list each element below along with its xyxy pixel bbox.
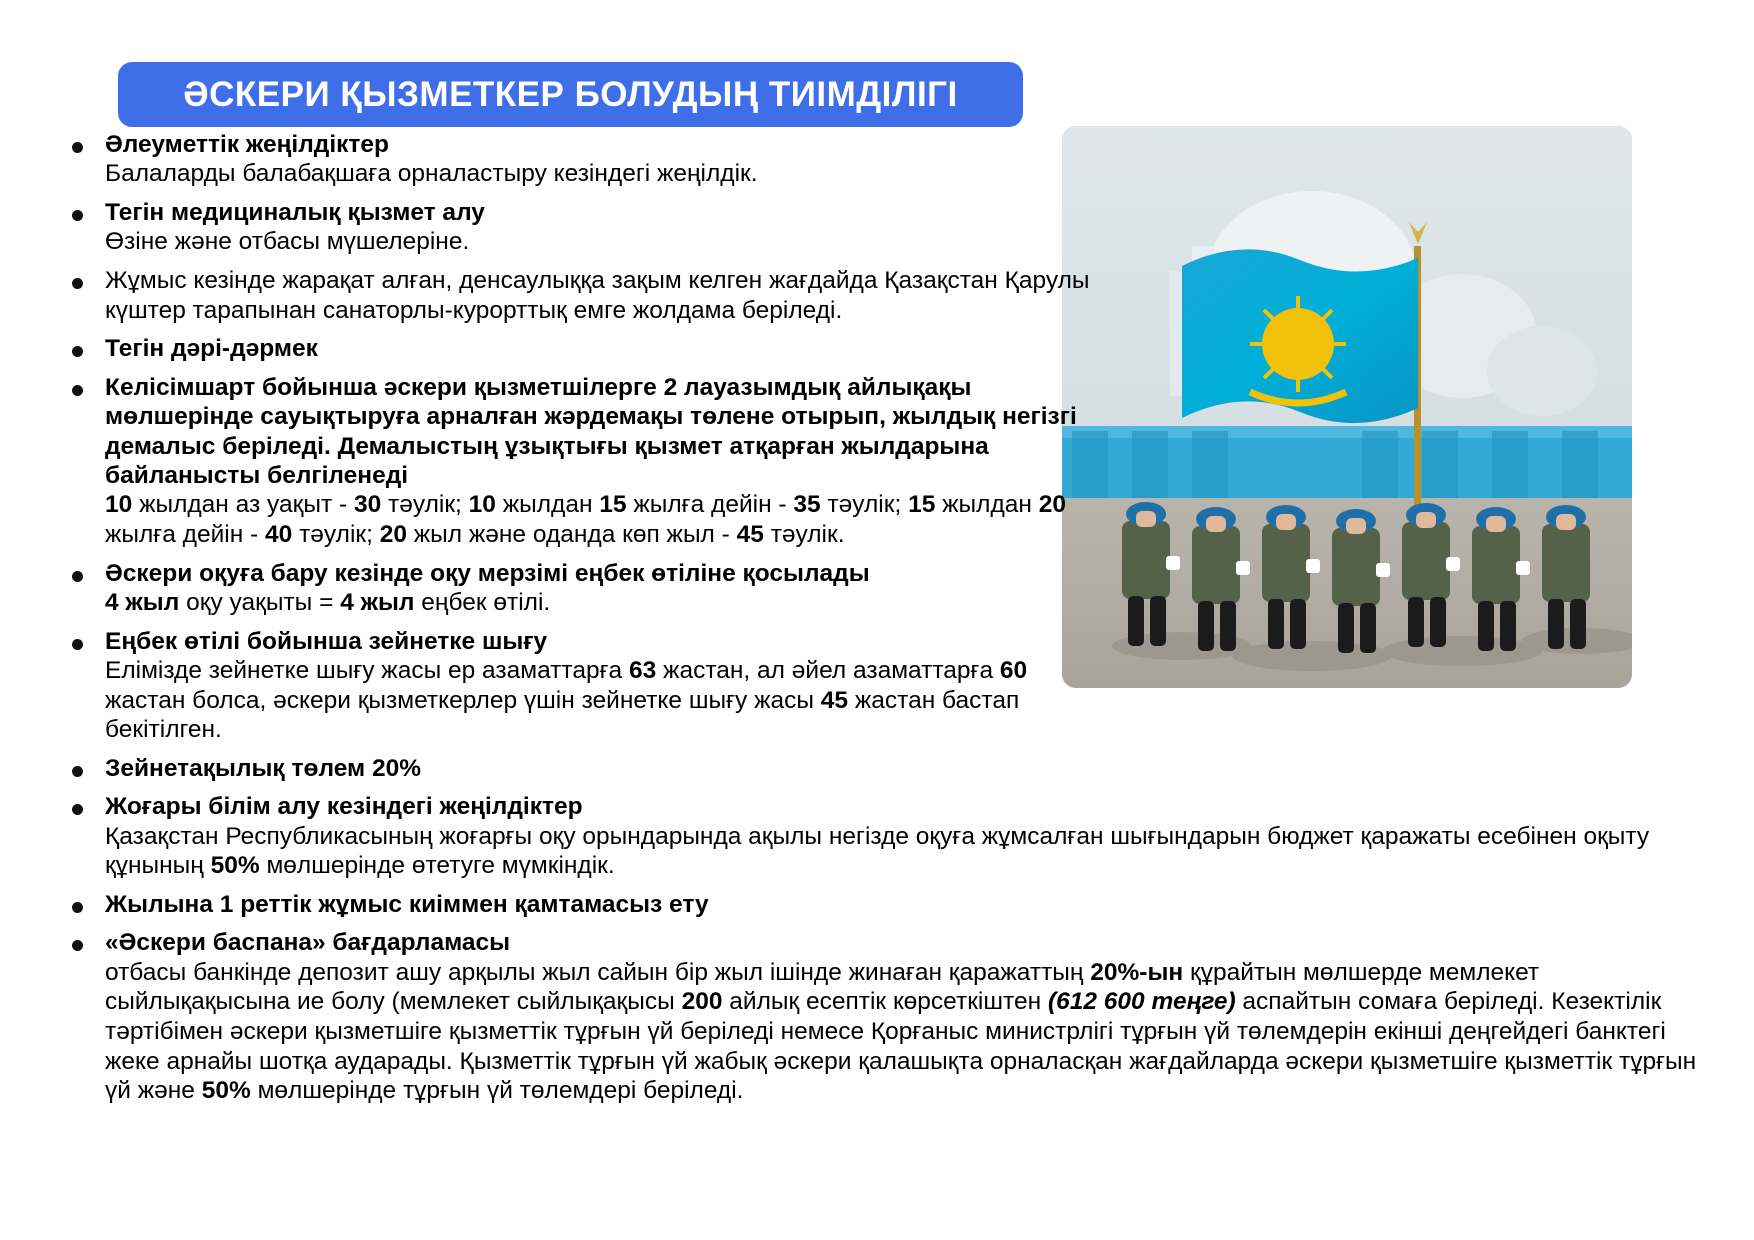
list-item: «Әскери баспана» бағдарламасы отбасы бан… xyxy=(60,928,1700,1106)
bullet-heading: Әскери оқуға бару кезінде оқу мерзімі ең… xyxy=(105,559,1090,588)
bullet-body: Балаларды балабақшаға орналастыру кезінд… xyxy=(105,159,1090,189)
page-title: ӘСКЕРИ ҚЫЗМЕТКЕР БОЛУДЫҢ ТИІМДІЛІГІ xyxy=(183,77,958,112)
title-banner: ӘСКЕРИ ҚЫЗМЕТКЕР БОЛУДЫҢ ТИІМДІЛІГІ xyxy=(118,62,1023,127)
list-item: Жылына 1 реттік жұмыс киіммен қамтамасыз… xyxy=(60,890,1700,919)
bullet-body: Жұмыс кезінде жарақат алған, денсаулыққа… xyxy=(105,266,1090,325)
bullet-heading: Келісімшарт бойынша әскери қызметшілерге… xyxy=(105,373,1090,491)
bullet-heading: «Әскери баспана» бағдарламасы xyxy=(105,928,1700,957)
list-item: Келісімшарт бойынша әскери қызметшілерге… xyxy=(60,373,1090,550)
bullet-heading: Тегін дәрі-дәрмек xyxy=(105,334,1090,363)
poster-page: ӘСКЕРИ ҚЫЗМЕТКЕР БОЛУДЫҢ ТИІМДІЛІГІ xyxy=(0,0,1754,1240)
benefits-list: Әлеуметтік жеңілдіктер Балаларды балабақ… xyxy=(60,130,1700,1106)
bullet-body: отбасы банкінде депозит ашу арқылы жыл с… xyxy=(105,958,1700,1106)
benefits-content: Әлеуметтік жеңілдіктер Балаларды балабақ… xyxy=(60,130,1700,1115)
bullet-heading: Жылына 1 реттік жұмыс киіммен қамтамасыз… xyxy=(105,890,1700,919)
bullet-body: 4 жыл оқу уақыты = 4 жыл еңбек өтілі. xyxy=(105,588,1090,618)
list-item: Тегін дәрі-дәрмек xyxy=(60,334,1090,363)
list-item: Жоғары білім алу кезіндегі жеңілдіктер Қ… xyxy=(60,792,1700,881)
bullet-body: 10 жылдан аз уақыт - 30 тәулік; 10 жылда… xyxy=(105,490,1090,549)
bullet-heading: Тегін медициналық қызмет алу xyxy=(105,198,1090,227)
list-item: Зейнетақылық төлем 20% xyxy=(60,754,1700,783)
bullet-heading: Зейнетақылық төлем 20% xyxy=(105,754,1700,783)
list-item: Әскери оқуға бару кезінде оқу мерзімі ең… xyxy=(60,559,1090,618)
bullet-body: Елімізде зейнетке шығу жасы ер азаматтар… xyxy=(105,656,1090,745)
bullet-body: Өзіне және отбасы мүшелеріне. xyxy=(105,227,1090,257)
list-item: Әлеуметтік жеңілдіктер Балаларды балабақ… xyxy=(60,130,1090,189)
bullet-heading: Жоғары білім алу кезіндегі жеңілдіктер xyxy=(105,792,1700,821)
bullet-heading: Еңбек өтілі бойынша зейнетке шығу xyxy=(105,627,1090,656)
list-item: Еңбек өтілі бойынша зейнетке шығу Еліміз… xyxy=(60,627,1090,745)
list-item: Тегін медициналық қызмет алу Өзіне және … xyxy=(60,198,1090,257)
list-item: Жұмыс кезінде жарақат алған, денсаулыққа… xyxy=(60,266,1090,325)
bullet-body: Қазақстан Республикасының жоғарғы оқу ор… xyxy=(105,822,1700,881)
bullet-heading: Әлеуметтік жеңілдіктер xyxy=(105,130,1090,159)
